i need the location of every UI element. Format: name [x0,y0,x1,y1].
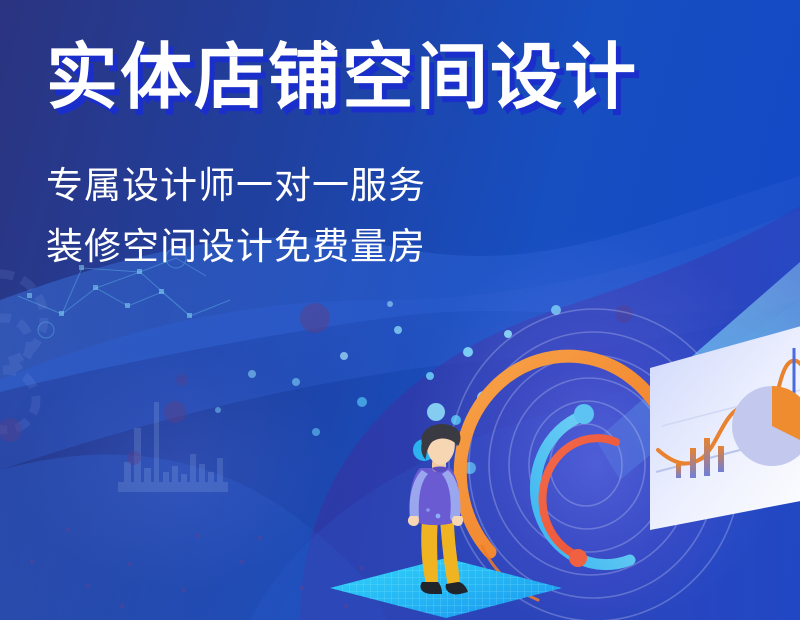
purple-dot [176,374,188,386]
skyline-chart-silhouette [118,398,228,498]
dashed-rings [0,274,44,430]
tiny-dot [128,562,132,566]
tiny-dot [86,584,90,588]
analytics-dashboard-panel [648,322,800,552]
tiny-dot [258,536,262,540]
purple-dot [0,418,22,442]
tiny-dot [182,588,186,592]
text-block: 实体店铺空间设计 专属设计师一对一服务 装修空间设计免费量房 [46,38,746,265]
tiny-dot [196,534,200,538]
bokeh-dot [292,378,300,386]
bokeh-dot [312,428,320,436]
red-arc-endcap [569,549,587,567]
tiny-dot [300,586,304,590]
tiny-dot [120,604,124,608]
subtitle-line-2: 装修空间设计免费量房 [46,228,746,265]
tiny-dot [240,560,244,564]
purple-dot [300,303,330,333]
bokeh-dot [340,352,348,360]
bokeh-dot [394,326,402,334]
tiny-dot [30,560,34,564]
cyan-arc-endcap [574,404,594,424]
bokeh-dot [248,370,256,378]
page-title: 实体店铺空间设计 [46,38,746,119]
promo-banner: 实体店铺空间设计 专属设计师一对一服务 装修空间设计免费量房 [0,0,800,620]
tiny-dot [66,528,70,532]
bokeh-dot [357,397,367,407]
subtitle-line-1: 专属设计师一对一服务 [46,167,746,204]
standing-person-illustration [392,424,488,604]
bokeh-dot [387,301,393,307]
